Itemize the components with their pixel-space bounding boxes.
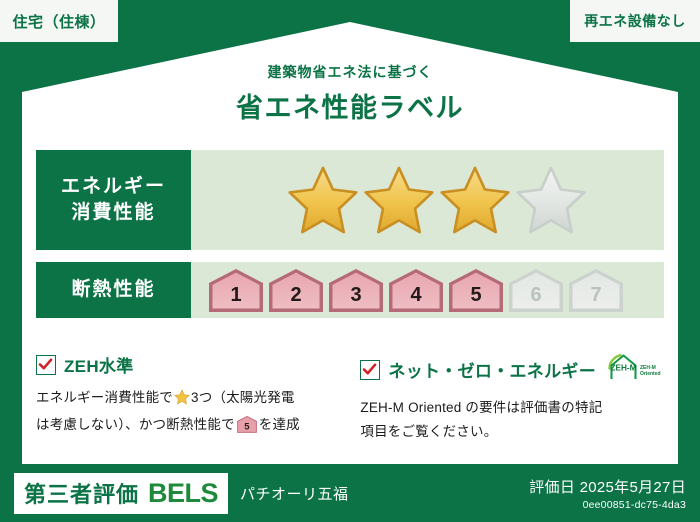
svg-text:5: 5 <box>244 421 250 432</box>
info-net-zero-title: ネット・ゼロ・エネルギー <box>388 357 596 382</box>
info-zeh-standard: ZEH水準 エネルギー消費性能で3つ（太陽光発電 は考慮しない）、かつ断熱性能で… <box>36 352 346 443</box>
bels-jp-label: 第三者評価 <box>24 477 139 509</box>
footer-eval-info: 評価日 2025年5月27日 0ee00851-dc75-4da3 <box>529 476 686 511</box>
info-zeh-standard-head: ZEH水準 <box>36 352 332 377</box>
insulation-level-number: 2 <box>290 284 301 314</box>
info-zeh-standard-body: エネルギー消費性能で3つ（太陽光発電 は考慮しない）、かつ断熱性能で5を達成 <box>36 386 332 440</box>
insulation-level-active: 1 <box>205 266 267 314</box>
star-filled-icon <box>287 165 359 235</box>
badge-renewable-energy-label: 再エネ設備なし <box>584 11 686 31</box>
footer-bar: 第三者評価 BELS パチオーリ五福 評価日 2025年5月27日 0ee008… <box>0 464 700 522</box>
star-rating <box>287 165 587 235</box>
net-zero-body-line1: ZEH-M Oriented の要件は評価書の特記 <box>360 400 602 415</box>
row-energy-label: エネルギー 消費性能 <box>36 150 191 250</box>
zeh-text-part3: は考慮しない）、かつ断熱性能で <box>36 417 235 432</box>
insulation-level-scale: 1234567 <box>205 266 625 314</box>
bels-certification-mark: 第三者評価 BELS <box>14 473 228 514</box>
info-net-zero-energy: ネット・ゼロ・エネルギー ZEH-M ZEH-M Oriented ZEH-M … <box>346 352 664 443</box>
info-zeh-standard-title: ZEH水準 <box>64 352 134 377</box>
performance-rows: エネルギー 消費性能 断熱性能 1234567 <box>36 150 664 330</box>
row-insulation-label-text: 断熱性能 <box>71 277 155 303</box>
zeh-m-oriented-logo-icon: ZEH-M ZEH-M Oriented <box>606 352 664 387</box>
bels-en-label: BELS <box>148 478 218 509</box>
row-energy-consumption: エネルギー 消費性能 <box>36 150 664 250</box>
row-insulation-label: 断熱性能 <box>36 262 191 318</box>
insulation-level-number: 4 <box>410 284 421 314</box>
inline-star-icon <box>174 393 190 408</box>
info-sections: ZEH水準 エネルギー消費性能で3つ（太陽光発電 は考慮しない）、かつ断熱性能で… <box>36 352 664 443</box>
insulation-level-inactive: 6 <box>505 266 567 314</box>
net-zero-body-line2: 項目をご覧ください。 <box>360 424 497 439</box>
zeh-text-part4: を達成 <box>259 417 300 432</box>
row-insulation-value: 1234567 <box>191 262 664 318</box>
insulation-level-number: 7 <box>590 284 601 314</box>
badge-renewable-energy: 再エネ設備なし <box>570 0 700 42</box>
insulation-level-number: 1 <box>230 284 241 314</box>
evaluation-date: 評価日 2025年5月27日 <box>529 476 686 497</box>
star-filled-icon <box>439 165 511 235</box>
insulation-level-active: 3 <box>325 266 387 314</box>
info-net-zero-head: ネット・ゼロ・エネルギー ZEH-M ZEH-M Oriented <box>360 352 664 387</box>
insulation-level-inactive: 7 <box>565 266 627 314</box>
insulation-level-number: 6 <box>530 284 541 314</box>
badge-building-type: 住宅（住棟） <box>0 0 118 42</box>
insulation-level-active: 4 <box>385 266 447 314</box>
insulation-level-active: 2 <box>265 266 327 314</box>
star-filled-icon <box>363 165 435 235</box>
zeh-text-part1: エネルギー消費性能で <box>36 390 173 405</box>
svg-text:ZEH-M: ZEH-M <box>611 364 637 373</box>
checkbox-checked-icon <box>360 360 380 380</box>
badge-building-type-label: 住宅（住棟） <box>12 11 105 32</box>
building-name: パチオーリ五福 <box>240 483 349 504</box>
insulation-level-number: 3 <box>350 284 361 314</box>
row-energy-label-line1: エネルギー <box>61 174 166 200</box>
row-insulation: 断熱性能 1234567 <box>36 262 664 318</box>
inline-level-badge: 5 <box>237 421 257 436</box>
checkbox-checked-icon <box>36 355 56 375</box>
row-energy-value <box>191 150 664 250</box>
energy-performance-label: 住宅（住棟） 再エネ設備なし 建築物省エネ法に基づく 省エネ性能ラベル エネルギ… <box>0 0 700 522</box>
evaluation-id: 0ee00851-dc75-4da3 <box>529 499 686 511</box>
header-subtitle: 建築物省エネ法に基づく <box>0 62 700 82</box>
svg-text:Oriented: Oriented <box>640 371 661 377</box>
header-titles: 建築物省エネ法に基づく 省エネ性能ラベル <box>0 62 700 125</box>
insulation-level-number: 5 <box>470 284 481 314</box>
zeh-text-part2: 3つ（太陽光発電 <box>191 390 295 405</box>
star-empty-icon <box>515 165 587 235</box>
row-energy-label-line2: 消費性能 <box>71 200 155 226</box>
insulation-level-active: 5 <box>445 266 507 314</box>
info-net-zero-body: ZEH-M Oriented の要件は評価書の特記 項目をご覧ください。 <box>360 396 664 443</box>
header-title: 省エネ性能ラベル <box>0 86 700 125</box>
